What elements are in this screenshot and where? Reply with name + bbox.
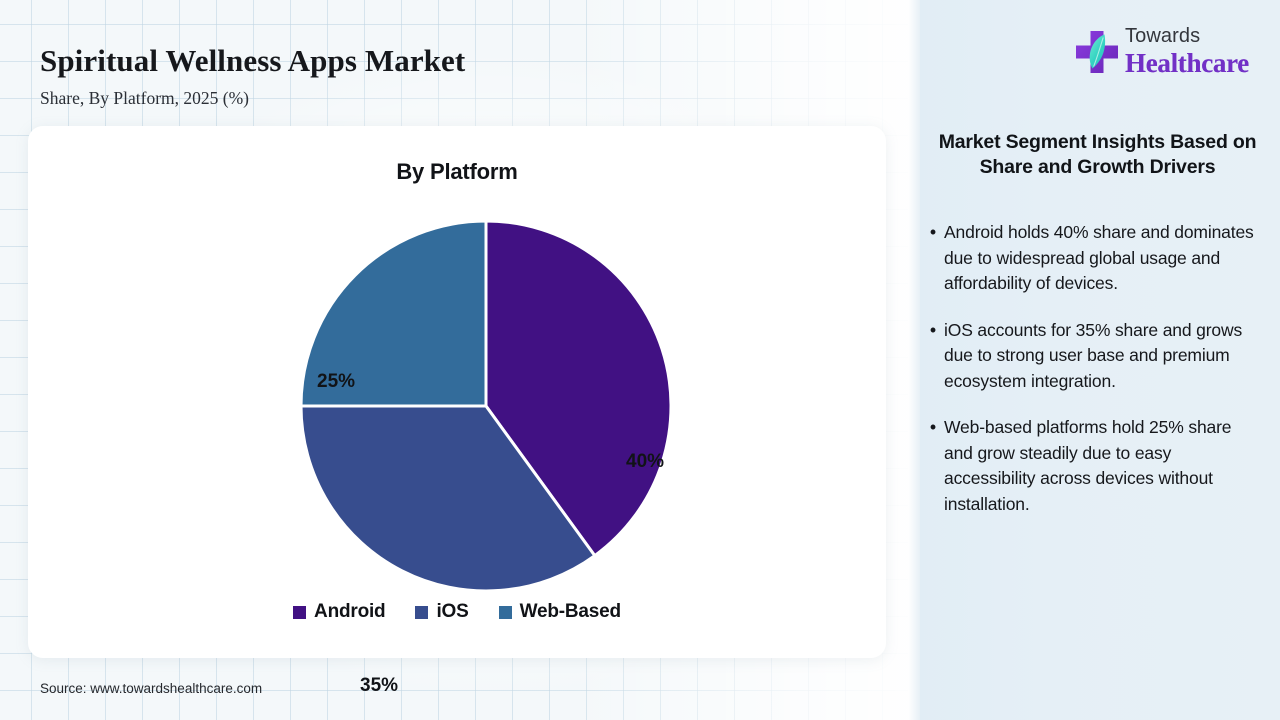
- legend-item-ios[interactable]: iOS: [415, 601, 468, 623]
- legend-label-android: Android: [314, 601, 385, 623]
- logo-text-healthcare: Healthcare: [1125, 48, 1253, 78]
- legend-label-ios: iOS: [436, 601, 468, 623]
- list-item-text: Android holds 40% share and dominates du…: [944, 220, 1264, 297]
- logo-wordmark: Towards Healthcare: [1125, 25, 1253, 78]
- pie-value-label-web-based: 25%: [317, 371, 355, 393]
- bullet-dot-icon: •: [922, 220, 944, 297]
- list-item: • iOS accounts for 35% share and grows d…: [922, 318, 1264, 395]
- list-item-text: Web-based platforms hold 25% share and g…: [944, 415, 1264, 517]
- legend-item-android[interactable]: Android: [293, 601, 385, 623]
- bullet-dot-icon: •: [922, 318, 944, 395]
- legend-swatch-ios: [415, 606, 428, 619]
- pie-chart-svg: [295, 215, 677, 597]
- page-subtitle: Share, By Platform, 2025 (%): [40, 88, 249, 109]
- bullet-dot-icon: •: [922, 415, 944, 517]
- legend-item-web-based[interactable]: Web-Based: [499, 601, 621, 623]
- slide-canvas: Spiritual Wellness Apps Market Share, By…: [0, 0, 1280, 720]
- insights-bullet-list: • Android holds 40% share and dominates …: [922, 220, 1264, 538]
- pie-value-label-android: 40%: [626, 451, 664, 473]
- legend-label-web-based: Web-Based: [520, 601, 621, 623]
- pie-chart: [295, 215, 677, 597]
- list-item: • Android holds 40% share and dominates …: [922, 220, 1264, 297]
- logo-text-towards: Towards: [1125, 25, 1253, 48]
- chart-legend: Android iOS Web-Based: [28, 601, 886, 623]
- chart-card: By Platform 40% 35% 25% Android iOS Web-…: [28, 126, 886, 658]
- pie-slices: [301, 221, 671, 591]
- list-item-text: iOS accounts for 35% share and grows due…: [944, 318, 1264, 395]
- purple-cross-with-leaf-icon: [1073, 28, 1121, 76]
- insights-heading: Market Segment Insights Based on Share a…: [931, 130, 1264, 179]
- page-title: Spiritual Wellness Apps Market: [40, 43, 465, 79]
- panel-divider: [908, 0, 920, 720]
- list-item: • Web-based platforms hold 25% share and…: [922, 415, 1264, 517]
- legend-swatch-android: [293, 606, 306, 619]
- legend-swatch-web-based: [499, 606, 512, 619]
- brand-logo[interactable]: Towards Healthcare: [1073, 25, 1253, 81]
- source-note: Source: www.towardshealthcare.com: [40, 681, 262, 696]
- chart-title: By Platform: [28, 159, 886, 185]
- pie-value-label-ios: 35%: [360, 675, 398, 697]
